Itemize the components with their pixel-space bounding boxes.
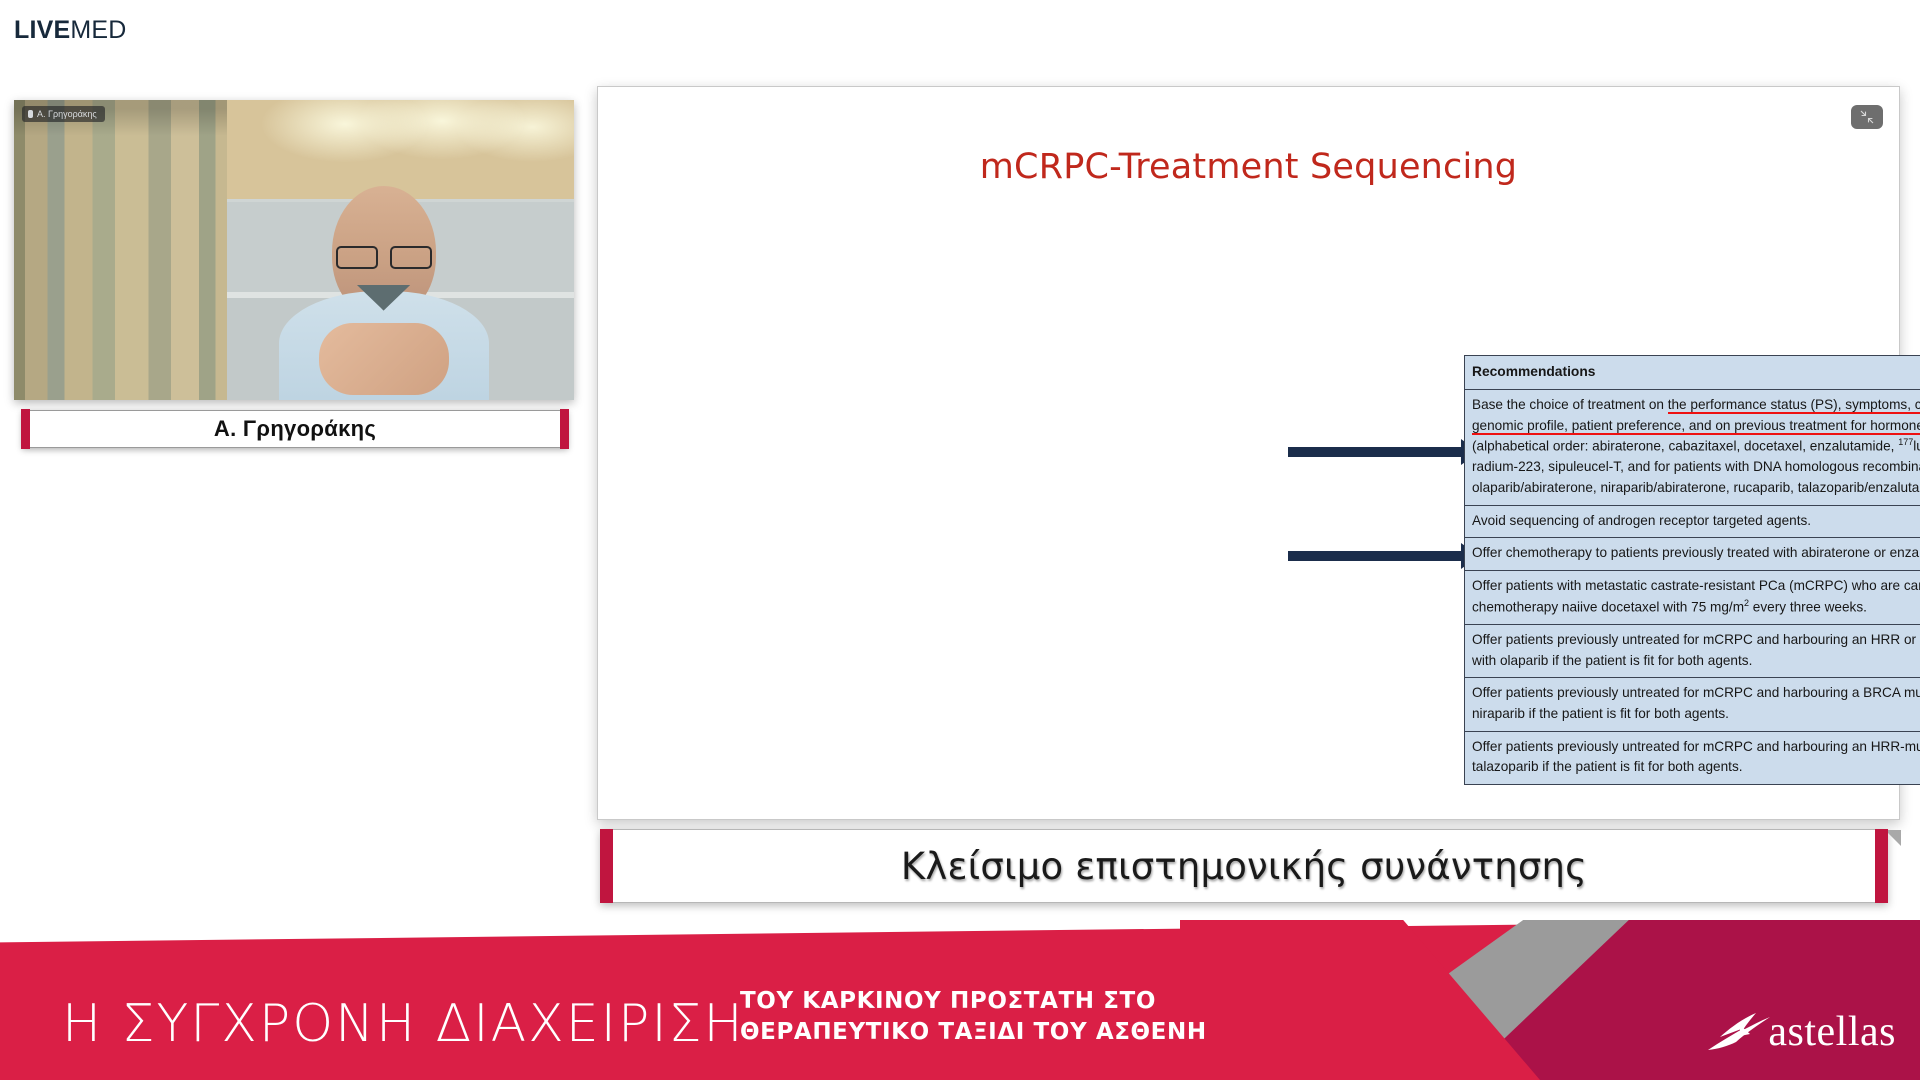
footer-subtitle-line-2: ΘΕΡΑΠΕΥΤΙΚΟ ΤΑΞΙΔΙ ΤΟΥ ΑΣΘΕΝΗ xyxy=(740,1017,1207,1048)
table-row: Offer patients previously untreated for … xyxy=(1465,678,1920,731)
table-row: Offer patients previously untreated for … xyxy=(1465,624,1920,677)
exit-fullscreen-icon[interactable] xyxy=(1851,105,1883,129)
annotation-arrow-1 xyxy=(1288,447,1463,457)
superscript-2: 2 xyxy=(1744,598,1749,608)
astellas-wordmark: astellas xyxy=(1768,1008,1896,1056)
astellas-star-icon xyxy=(1706,1006,1772,1058)
person-collar xyxy=(357,285,411,311)
table-row: Base the choice of treatment on the perf… xyxy=(1465,389,1920,505)
event-footer-banner: Η ΣΥΓΧΡΟΝΗ ΔΙΑΧΕΙΡΙΣΗ ΤΟΥ ΚΑΡΚΙΝΟΥ ΠΡΟΣΤ… xyxy=(0,920,1920,1080)
cell-recommendation: Offer patients previously untreated for … xyxy=(1465,624,1920,677)
speaker-video[interactable]: Α. Γρηγοράκης xyxy=(14,100,574,400)
cell-recommendation: Offer chemotherapy to patients previousl… xyxy=(1465,538,1920,571)
person-hands xyxy=(319,323,449,395)
slide-title: mCRPC-Treatment Sequencing xyxy=(598,147,1899,187)
webinar-page: LIVEMED Α. Γρηγοράκης Α. Γρηγοράκης xyxy=(0,0,1920,1080)
caption-fold-corner xyxy=(1885,830,1901,846)
microphone-icon xyxy=(28,110,33,118)
video-person xyxy=(260,172,506,400)
table-row: Offer patients previously untreated for … xyxy=(1465,731,1920,784)
highlighted-text: the performance status (PS), symptoms, c… xyxy=(1472,397,1920,435)
footer-subtitle: ΤΟΥ ΚΑΡΚΙΝΟΥ ΠΡΟΣΤΑΤΗ ΣΤΟ ΘΕΡΑΠΕΥΤΙΚΟ ΤΑ… xyxy=(740,986,1207,1048)
livemed-logo: LIVEMED xyxy=(14,16,127,45)
session-caption-text: Κλείσιμο επιστημονικής συνάντησης xyxy=(901,845,1587,888)
cell-recommendation: Offer patients previously untreated for … xyxy=(1465,731,1920,784)
participant-badge: Α. Γρηγοράκης xyxy=(22,106,105,122)
speaker-name-bar: Α. Γρηγοράκης xyxy=(22,410,568,448)
cell-recommendation: Offer patients previously untreated for … xyxy=(1465,678,1920,731)
column-header-recommendations: Recommendations xyxy=(1465,356,1920,390)
logo-med: MED xyxy=(70,16,126,45)
table-body: Base the choice of treatment on the perf… xyxy=(1465,389,1920,784)
speaker-name: Α. Γρηγοράκης xyxy=(214,416,376,442)
table-row: Offer patients with metastatic castrate-… xyxy=(1465,571,1920,625)
cell-recommendation: Avoid sequencing of androgen receptor ta… xyxy=(1465,505,1920,538)
table-row: Offer chemotherapy to patients previousl… xyxy=(1465,538,1920,571)
footer-title: Η ΣΥΓΧΡΟΝΗ ΔΙΑΧΕΙΡΙΣΗ xyxy=(62,994,745,1054)
table-header-row: Recommendations Strength rating xyxy=(1465,356,1920,390)
slide-viewer[interactable]: mCRPC-Treatment Sequencing Recommendatio… xyxy=(597,86,1900,820)
cell-recommendation: Offer patients with metastatic castrate-… xyxy=(1465,571,1920,625)
logo-live: LIVE xyxy=(14,16,70,45)
recommendations-table: Recommendations Strength rating Base the… xyxy=(1464,355,1920,785)
annotation-arrow-2 xyxy=(1288,551,1463,561)
cell-recommendation: Base the choice of treatment on the perf… xyxy=(1465,389,1920,505)
session-caption-bar: Κλείσιμο επιστημονικής συνάντησης xyxy=(600,829,1888,903)
glasses-icon xyxy=(336,246,432,266)
superscript-177: 177 xyxy=(1898,437,1913,447)
table-row: Avoid sequencing of androgen receptor ta… xyxy=(1465,505,1920,538)
participant-badge-label: Α. Γρηγοράκης xyxy=(37,109,97,119)
astellas-logo: astellas xyxy=(1706,1006,1896,1058)
footer-subtitle-line-1: ΤΟΥ ΚΑΡΚΙΝΟΥ ΠΡΟΣΤΑΤΗ ΣΤΟ xyxy=(740,986,1207,1017)
